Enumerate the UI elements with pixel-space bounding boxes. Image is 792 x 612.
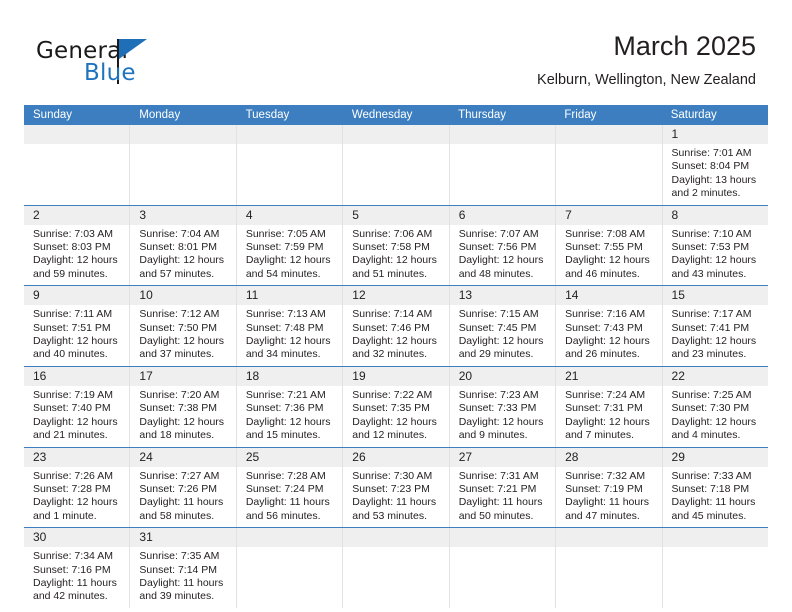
day-details: Sunrise: 7:25 AMSunset: 7:30 PMDaylight:… [663, 386, 768, 447]
day-details: Sunrise: 7:04 AMSunset: 8:01 PMDaylight:… [130, 225, 235, 286]
day-number: 4 [237, 206, 342, 225]
sunset-time: Sunset: 7:41 PM [672, 322, 762, 335]
sunrise-time: Sunrise: 7:31 AM [459, 470, 549, 483]
daylight-duration: Daylight: 12 hours and 12 minutes. [352, 416, 442, 443]
day-cell[interactable]: 5Sunrise: 7:06 AMSunset: 7:58 PMDaylight… [342, 206, 448, 286]
sunrise-time: Sunrise: 7:13 AM [246, 308, 336, 321]
day-cell[interactable]: 27Sunrise: 7:31 AMSunset: 7:21 PMDayligh… [449, 448, 555, 528]
sunset-time: Sunset: 7:51 PM [33, 322, 123, 335]
daylight-duration: Daylight: 12 hours and 43 minutes. [672, 254, 762, 281]
page-subtitle: Kelburn, Wellington, New Zealand [537, 71, 756, 89]
sunset-time: Sunset: 7:36 PM [246, 402, 336, 415]
sunrise-time: Sunrise: 7:23 AM [459, 389, 549, 402]
day-details: Sunrise: 7:19 AMSunset: 7:40 PMDaylight:… [24, 386, 129, 447]
day-number: 11 [237, 286, 342, 305]
sunrise-time: Sunrise: 7:25 AM [672, 389, 762, 402]
day-details: Sunrise: 7:16 AMSunset: 7:43 PMDaylight:… [556, 305, 661, 366]
day-number: 25 [237, 448, 342, 467]
day-details: Sunrise: 7:30 AMSunset: 7:23 PMDaylight:… [343, 467, 448, 528]
logo-flag-icon [119, 39, 147, 59]
sunrise-time: Sunrise: 7:20 AM [139, 389, 229, 402]
day-cell[interactable]: 15Sunrise: 7:17 AMSunset: 7:41 PMDayligh… [662, 286, 768, 366]
day-cell[interactable]: 29Sunrise: 7:33 AMSunset: 7:18 PMDayligh… [662, 448, 768, 528]
daylight-duration: Daylight: 12 hours and 1 minute. [33, 496, 123, 523]
day-number [556, 125, 661, 144]
day-number: 30 [24, 528, 129, 547]
day-details: Sunrise: 7:31 AMSunset: 7:21 PMDaylight:… [450, 467, 555, 528]
day-number [450, 528, 555, 547]
daylight-duration: Daylight: 11 hours and 53 minutes. [352, 496, 442, 523]
day-details: Sunrise: 7:11 AMSunset: 7:51 PMDaylight:… [24, 305, 129, 366]
calendar-page: General Blue March 2025 Kelburn, Welling… [0, 0, 792, 612]
day-number: 28 [556, 448, 661, 467]
sunrise-time: Sunrise: 7:15 AM [459, 308, 549, 321]
sunset-time: Sunset: 7:55 PM [565, 241, 655, 254]
day-cell[interactable]: 7Sunrise: 7:08 AMSunset: 7:55 PMDaylight… [555, 206, 661, 286]
day-cell[interactable]: 12Sunrise: 7:14 AMSunset: 7:46 PMDayligh… [342, 286, 448, 366]
weekday-header-sunday: Sunday [24, 105, 130, 125]
general-blue-logo[interactable]: General Blue [36, 38, 256, 94]
daylight-duration: Daylight: 12 hours and 23 minutes. [672, 335, 762, 362]
sunset-time: Sunset: 7:23 PM [352, 483, 442, 496]
sunrise-time: Sunrise: 7:30 AM [352, 470, 442, 483]
sunset-time: Sunset: 8:01 PM [139, 241, 229, 254]
sunrise-time: Sunrise: 7:04 AM [139, 228, 229, 241]
day-cell[interactable]: 26Sunrise: 7:30 AMSunset: 7:23 PMDayligh… [342, 448, 448, 528]
day-cell[interactable]: 1Sunrise: 7:01 AMSunset: 8:04 PMDaylight… [662, 125, 768, 205]
day-number: 5 [343, 206, 448, 225]
weekday-header-monday: Monday [130, 105, 236, 125]
sunrise-time: Sunrise: 7:22 AM [352, 389, 442, 402]
day-number [343, 125, 448, 144]
day-number: 21 [556, 367, 661, 386]
day-cell[interactable]: 24Sunrise: 7:27 AMSunset: 7:26 PMDayligh… [129, 448, 235, 528]
day-number: 6 [450, 206, 555, 225]
daylight-duration: Daylight: 12 hours and 54 minutes. [246, 254, 336, 281]
sunset-time: Sunset: 8:04 PM [672, 160, 762, 173]
day-details: Sunrise: 7:26 AMSunset: 7:28 PMDaylight:… [24, 467, 129, 528]
title-block: March 2025 Kelburn, Wellington, New Zeal… [537, 30, 756, 89]
day-cell[interactable]: 31Sunrise: 7:35 AMSunset: 7:14 PMDayligh… [129, 528, 235, 608]
day-number: 12 [343, 286, 448, 305]
day-details: Sunrise: 7:03 AMSunset: 8:03 PMDaylight:… [24, 225, 129, 286]
day-cell[interactable]: 28Sunrise: 7:32 AMSunset: 7:19 PMDayligh… [555, 448, 661, 528]
sunrise-time: Sunrise: 7:19 AM [33, 389, 123, 402]
weekday-header-wednesday: Wednesday [343, 105, 449, 125]
calendar-week-row: 2Sunrise: 7:03 AMSunset: 8:03 PMDaylight… [24, 205, 768, 286]
weekday-header-saturday: Saturday [662, 105, 768, 125]
day-number: 16 [24, 367, 129, 386]
day-cell[interactable]: 2Sunrise: 7:03 AMSunset: 8:03 PMDaylight… [24, 206, 129, 286]
daylight-duration: Daylight: 11 hours and 50 minutes. [459, 496, 549, 523]
day-number: 10 [130, 286, 235, 305]
day-number: 22 [663, 367, 768, 386]
calendar-body: 1Sunrise: 7:01 AMSunset: 8:04 PMDaylight… [24, 125, 768, 608]
day-number: 8 [663, 206, 768, 225]
day-cell[interactable]: 11Sunrise: 7:13 AMSunset: 7:48 PMDayligh… [236, 286, 342, 366]
day-number: 29 [663, 448, 768, 467]
day-details: Sunrise: 7:14 AMSunset: 7:46 PMDaylight:… [343, 305, 448, 366]
sunset-time: Sunset: 7:16 PM [33, 564, 123, 577]
day-number [130, 125, 235, 144]
day-details: Sunrise: 7:28 AMSunset: 7:24 PMDaylight:… [237, 467, 342, 528]
sunrise-time: Sunrise: 7:07 AM [459, 228, 549, 241]
sunset-time: Sunset: 7:46 PM [352, 322, 442, 335]
daylight-duration: Daylight: 12 hours and 9 minutes. [459, 416, 549, 443]
day-cell-empty [449, 528, 555, 608]
day-cell[interactable]: 19Sunrise: 7:22 AMSunset: 7:35 PMDayligh… [342, 367, 448, 447]
day-cell[interactable]: 16Sunrise: 7:19 AMSunset: 7:40 PMDayligh… [24, 367, 129, 447]
sunrise-time: Sunrise: 7:14 AM [352, 308, 442, 321]
weekday-header-row: SundayMondayTuesdayWednesdayThursdayFrid… [24, 105, 768, 125]
sunset-time: Sunset: 7:58 PM [352, 241, 442, 254]
day-details: Sunrise: 7:33 AMSunset: 7:18 PMDaylight:… [663, 467, 768, 528]
day-cell-empty [555, 528, 661, 608]
daylight-duration: Daylight: 12 hours and 46 minutes. [565, 254, 655, 281]
day-number: 9 [24, 286, 129, 305]
day-cell-empty [342, 528, 448, 608]
day-details: Sunrise: 7:34 AMSunset: 7:16 PMDaylight:… [24, 547, 129, 608]
day-cell[interactable]: 8Sunrise: 7:10 AMSunset: 7:53 PMDaylight… [662, 206, 768, 286]
day-number: 3 [130, 206, 235, 225]
day-cell[interactable]: 22Sunrise: 7:25 AMSunset: 7:30 PMDayligh… [662, 367, 768, 447]
day-number [24, 125, 129, 144]
day-number: 24 [130, 448, 235, 467]
sunrise-time: Sunrise: 7:12 AM [139, 308, 229, 321]
daylight-duration: Daylight: 11 hours and 47 minutes. [565, 496, 655, 523]
sunset-time: Sunset: 7:14 PM [139, 564, 229, 577]
day-cell[interactable]: 25Sunrise: 7:28 AMSunset: 7:24 PMDayligh… [236, 448, 342, 528]
daylight-duration: Daylight: 12 hours and 48 minutes. [459, 254, 549, 281]
daylight-duration: Daylight: 12 hours and 7 minutes. [565, 416, 655, 443]
day-cell-empty [449, 125, 555, 205]
sunset-time: Sunset: 7:38 PM [139, 402, 229, 415]
daylight-duration: Daylight: 12 hours and 59 minutes. [33, 254, 123, 281]
day-cell-empty [662, 528, 768, 608]
daylight-duration: Daylight: 12 hours and 15 minutes. [246, 416, 336, 443]
day-details: Sunrise: 7:17 AMSunset: 7:41 PMDaylight:… [663, 305, 768, 366]
sunset-time: Sunset: 7:50 PM [139, 322, 229, 335]
sunset-time: Sunset: 7:56 PM [459, 241, 549, 254]
sunset-time: Sunset: 7:30 PM [672, 402, 762, 415]
day-number [343, 528, 448, 547]
weekday-header-tuesday: Tuesday [237, 105, 343, 125]
day-cell[interactable]: 14Sunrise: 7:16 AMSunset: 7:43 PMDayligh… [555, 286, 661, 366]
day-number: 19 [343, 367, 448, 386]
daylight-duration: Daylight: 11 hours and 39 minutes. [139, 577, 229, 604]
day-cell[interactable]: 9Sunrise: 7:11 AMSunset: 7:51 PMDaylight… [24, 286, 129, 366]
day-details: Sunrise: 7:13 AMSunset: 7:48 PMDaylight:… [237, 305, 342, 366]
logo-text-blue: Blue [84, 60, 136, 86]
day-details: Sunrise: 7:22 AMSunset: 7:35 PMDaylight:… [343, 386, 448, 447]
day-cell[interactable]: 30Sunrise: 7:34 AMSunset: 7:16 PMDayligh… [24, 528, 129, 608]
day-number: 7 [556, 206, 661, 225]
day-number: 26 [343, 448, 448, 467]
day-details: Sunrise: 7:32 AMSunset: 7:19 PMDaylight:… [556, 467, 661, 528]
calendar-grid: SundayMondayTuesdayWednesdayThursdayFrid… [24, 105, 768, 608]
day-details: Sunrise: 7:27 AMSunset: 7:26 PMDaylight:… [130, 467, 235, 528]
day-number [556, 528, 661, 547]
page-title: March 2025 [537, 30, 756, 62]
day-cell-empty [236, 125, 342, 205]
day-cell-empty [555, 125, 661, 205]
day-number: 17 [130, 367, 235, 386]
sunset-time: Sunset: 7:35 PM [352, 402, 442, 415]
day-details: Sunrise: 7:20 AMSunset: 7:38 PMDaylight:… [130, 386, 235, 447]
sunrise-time: Sunrise: 7:35 AM [139, 550, 229, 563]
daylight-duration: Daylight: 12 hours and 32 minutes. [352, 335, 442, 362]
sunrise-time: Sunrise: 7:05 AM [246, 228, 336, 241]
sunrise-time: Sunrise: 7:08 AM [565, 228, 655, 241]
day-details: Sunrise: 7:10 AMSunset: 7:53 PMDaylight:… [663, 225, 768, 286]
daylight-duration: Daylight: 12 hours and 18 minutes. [139, 416, 229, 443]
day-number: 2 [24, 206, 129, 225]
calendar-week-row: 9Sunrise: 7:11 AMSunset: 7:51 PMDaylight… [24, 285, 768, 366]
day-cell-empty [129, 125, 235, 205]
sunset-time: Sunset: 7:33 PM [459, 402, 549, 415]
day-cell[interactable]: 23Sunrise: 7:26 AMSunset: 7:28 PMDayligh… [24, 448, 129, 528]
daylight-duration: Daylight: 12 hours and 51 minutes. [352, 254, 442, 281]
sunrise-time: Sunrise: 7:11 AM [33, 308, 123, 321]
day-number: 18 [237, 367, 342, 386]
sunset-time: Sunset: 7:31 PM [565, 402, 655, 415]
daylight-duration: Daylight: 12 hours and 37 minutes. [139, 335, 229, 362]
sunset-time: Sunset: 7:21 PM [459, 483, 549, 496]
sunset-time: Sunset: 7:19 PM [565, 483, 655, 496]
sunrise-time: Sunrise: 7:32 AM [565, 470, 655, 483]
daylight-duration: Daylight: 11 hours and 42 minutes. [33, 577, 123, 604]
sunset-time: Sunset: 7:59 PM [246, 241, 336, 254]
calendar-week-row: 30Sunrise: 7:34 AMSunset: 7:16 PMDayligh… [24, 527, 768, 608]
day-cell-empty [236, 528, 342, 608]
sunrise-time: Sunrise: 7:17 AM [672, 308, 762, 321]
sunset-time: Sunset: 7:40 PM [33, 402, 123, 415]
daylight-duration: Daylight: 12 hours and 21 minutes. [33, 416, 123, 443]
sunrise-time: Sunrise: 7:01 AM [672, 147, 762, 160]
daylight-duration: Daylight: 12 hours and 4 minutes. [672, 416, 762, 443]
day-number: 13 [450, 286, 555, 305]
daylight-duration: Daylight: 11 hours and 56 minutes. [246, 496, 336, 523]
day-details: Sunrise: 7:21 AMSunset: 7:36 PMDaylight:… [237, 386, 342, 447]
day-number [237, 528, 342, 547]
daylight-duration: Daylight: 12 hours and 29 minutes. [459, 335, 549, 362]
day-cell[interactable]: 13Sunrise: 7:15 AMSunset: 7:45 PMDayligh… [449, 286, 555, 366]
sunset-time: Sunset: 7:43 PM [565, 322, 655, 335]
day-details: Sunrise: 7:08 AMSunset: 7:55 PMDaylight:… [556, 225, 661, 286]
sunset-time: Sunset: 7:18 PM [672, 483, 762, 496]
weekday-header-thursday: Thursday [449, 105, 555, 125]
daylight-duration: Daylight: 11 hours and 45 minutes. [672, 496, 762, 523]
day-number: 14 [556, 286, 661, 305]
day-cell[interactable]: 10Sunrise: 7:12 AMSunset: 7:50 PMDayligh… [129, 286, 235, 366]
sunset-time: Sunset: 7:48 PM [246, 322, 336, 335]
day-details: Sunrise: 7:23 AMSunset: 7:33 PMDaylight:… [450, 386, 555, 447]
sunrise-time: Sunrise: 7:28 AM [246, 470, 336, 483]
daylight-duration: Daylight: 13 hours and 2 minutes. [672, 174, 762, 201]
day-cell[interactable]: 6Sunrise: 7:07 AMSunset: 7:56 PMDaylight… [449, 206, 555, 286]
day-details: Sunrise: 7:15 AMSunset: 7:45 PMDaylight:… [450, 305, 555, 366]
sunset-time: Sunset: 7:24 PM [246, 483, 336, 496]
sunrise-time: Sunrise: 7:34 AM [33, 550, 123, 563]
weekday-header-friday: Friday [555, 105, 661, 125]
sunset-time: Sunset: 7:26 PM [139, 483, 229, 496]
daylight-duration: Daylight: 12 hours and 57 minutes. [139, 254, 229, 281]
sunrise-time: Sunrise: 7:33 AM [672, 470, 762, 483]
day-number: 31 [130, 528, 235, 547]
calendar-week-row: 23Sunrise: 7:26 AMSunset: 7:28 PMDayligh… [24, 447, 768, 528]
day-number: 20 [450, 367, 555, 386]
day-details: Sunrise: 7:35 AMSunset: 7:14 PMDaylight:… [130, 547, 235, 608]
day-details: Sunrise: 7:06 AMSunset: 7:58 PMDaylight:… [343, 225, 448, 286]
day-cell[interactable]: 17Sunrise: 7:20 AMSunset: 7:38 PMDayligh… [129, 367, 235, 447]
daylight-duration: Daylight: 12 hours and 26 minutes. [565, 335, 655, 362]
sunrise-time: Sunrise: 7:03 AM [33, 228, 123, 241]
day-details: Sunrise: 7:05 AMSunset: 7:59 PMDaylight:… [237, 225, 342, 286]
day-cell-empty [24, 125, 129, 205]
day-number: 23 [24, 448, 129, 467]
day-cell-empty [342, 125, 448, 205]
day-cell[interactable]: 18Sunrise: 7:21 AMSunset: 7:36 PMDayligh… [236, 367, 342, 447]
sunrise-time: Sunrise: 7:21 AM [246, 389, 336, 402]
sunrise-time: Sunrise: 7:27 AM [139, 470, 229, 483]
day-number [450, 125, 555, 144]
sunset-time: Sunset: 8:03 PM [33, 241, 123, 254]
day-cell[interactable]: 4Sunrise: 7:05 AMSunset: 7:59 PMDaylight… [236, 206, 342, 286]
day-details: Sunrise: 7:24 AMSunset: 7:31 PMDaylight:… [556, 386, 661, 447]
sunrise-time: Sunrise: 7:06 AM [352, 228, 442, 241]
page-header: General Blue March 2025 Kelburn, Welling… [0, 0, 792, 100]
calendar-week-row: 1Sunrise: 7:01 AMSunset: 8:04 PMDaylight… [24, 125, 768, 205]
sunset-time: Sunset: 7:53 PM [672, 241, 762, 254]
sunset-time: Sunset: 7:45 PM [459, 322, 549, 335]
day-number [663, 528, 768, 547]
sunrise-time: Sunrise: 7:26 AM [33, 470, 123, 483]
day-details: Sunrise: 7:07 AMSunset: 7:56 PMDaylight:… [450, 225, 555, 286]
day-cell[interactable]: 3Sunrise: 7:04 AMSunset: 8:01 PMDaylight… [129, 206, 235, 286]
calendar-week-row: 16Sunrise: 7:19 AMSunset: 7:40 PMDayligh… [24, 366, 768, 447]
day-number [237, 125, 342, 144]
day-number: 15 [663, 286, 768, 305]
sunrise-time: Sunrise: 7:16 AM [565, 308, 655, 321]
day-details: Sunrise: 7:01 AMSunset: 8:04 PMDaylight:… [663, 144, 768, 205]
sunrise-time: Sunrise: 7:24 AM [565, 389, 655, 402]
day-cell[interactable]: 21Sunrise: 7:24 AMSunset: 7:31 PMDayligh… [555, 367, 661, 447]
daylight-duration: Daylight: 11 hours and 58 minutes. [139, 496, 229, 523]
day-details: Sunrise: 7:12 AMSunset: 7:50 PMDaylight:… [130, 305, 235, 366]
day-cell[interactable]: 20Sunrise: 7:23 AMSunset: 7:33 PMDayligh… [449, 367, 555, 447]
daylight-duration: Daylight: 12 hours and 40 minutes. [33, 335, 123, 362]
day-number: 27 [450, 448, 555, 467]
sunrise-time: Sunrise: 7:10 AM [672, 228, 762, 241]
daylight-duration: Daylight: 12 hours and 34 minutes. [246, 335, 336, 362]
sunset-time: Sunset: 7:28 PM [33, 483, 123, 496]
day-number: 1 [663, 125, 768, 144]
